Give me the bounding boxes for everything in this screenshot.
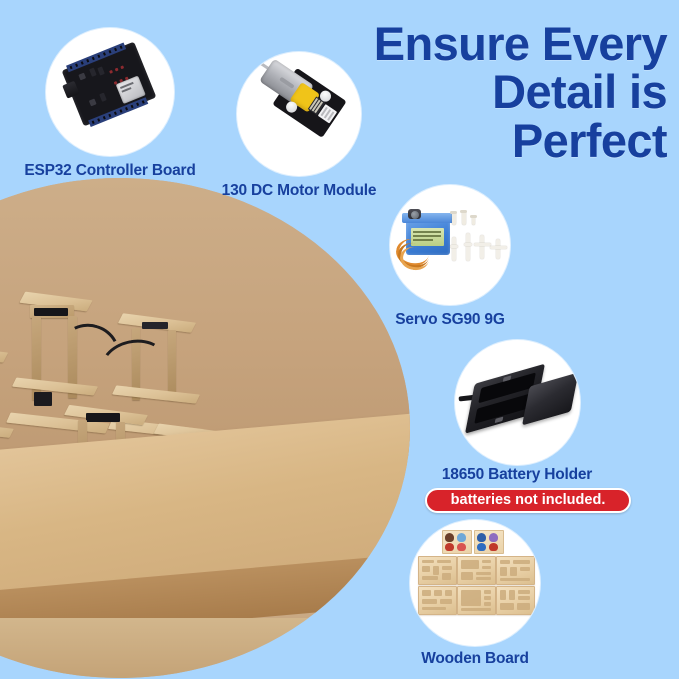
battery-label: 18650 Battery Holder: [412, 466, 622, 484]
photo-floor: [0, 618, 410, 678]
servo-motor-icon: [400, 209, 460, 261]
motor-label: 130 DC Motor Module: [189, 182, 409, 200]
product-servo: Servo SG90 9G: [390, 185, 510, 305]
status-badge: batteries not included.: [425, 488, 631, 513]
motor-bubble: [237, 52, 361, 176]
product-dc-motor: 130 DC Motor Module: [237, 52, 361, 176]
headline: Ensure Every Detail is Perfect: [337, 20, 667, 165]
headline-line-1: Ensure Every: [337, 20, 667, 68]
servo-bubble: [390, 185, 510, 305]
headline-line-3: Perfect: [337, 117, 667, 165]
product-infographic: Ensure Every Detail is Perfect: [0, 0, 679, 679]
esp32-label: ESP32 Controller Board: [0, 162, 220, 180]
wooden-board-label: Wooden Board: [367, 650, 583, 668]
dc-motor-module-icon: [251, 54, 346, 139]
esp32-bubble: [46, 28, 174, 156]
wooden-board-bubble: [410, 520, 540, 646]
product-battery-holder: 18650 Battery Holder batteries not inclu…: [455, 340, 580, 465]
product-esp32: ESP32 Controller Board: [46, 28, 174, 156]
battery-holder-icon: [466, 363, 576, 434]
plywood-sheets-icon: [418, 530, 532, 630]
servo-label: Servo SG90 9G: [340, 311, 560, 329]
main-product-photo: [0, 178, 410, 678]
headline-line-2: Detail is: [337, 68, 667, 116]
product-wooden-board: Wooden Board: [410, 520, 540, 646]
battery-bubble: [455, 340, 580, 465]
esp32-board-icon: [62, 42, 157, 127]
